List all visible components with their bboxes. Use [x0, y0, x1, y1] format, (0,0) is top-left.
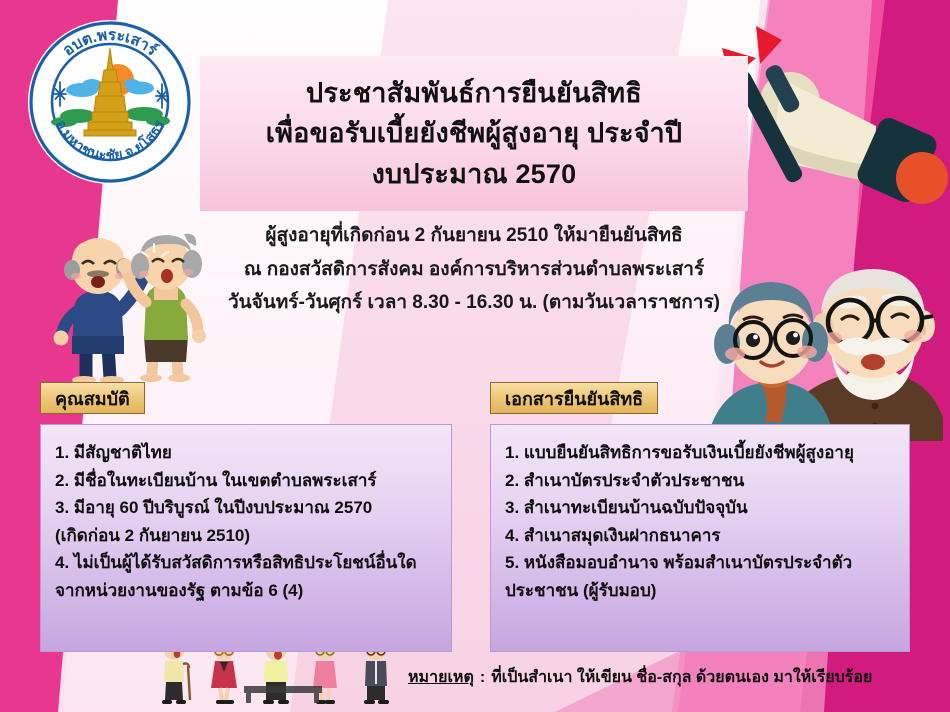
- qualification-item: จากหน่วยงานของรัฐ ตามข้อ 6 (4): [55, 577, 437, 605]
- tab-qualifications-label: คุณสมบัติ: [55, 384, 130, 413]
- document-item: 3. สำเนาทะเบียนบ้านฉบับปัจจุบัน: [505, 494, 895, 522]
- tab-documents-label: เอกสารยืนยันสิทธิ: [505, 384, 643, 413]
- document-item: 2. สำเนาบัตรประจำตัวประชาชน: [505, 467, 895, 495]
- qualification-item: (เกิดก่อน 2 กันยายน 2510): [55, 522, 437, 550]
- document-item: 1. แบบยืนยันสิทธิการขอรับเงินเบี้ยยังชีพ…: [505, 439, 895, 467]
- subtitle-line-2: ณ กองสวัสดิการสังคม องค์การบริหารส่วนตำบ…: [244, 258, 704, 283]
- footer-note: หมายเหตุ : ที่เป็นสำเนา ให้เขียน ชื่อ-สก…: [408, 665, 872, 690]
- title-banner: ประชาสัมพันธ์การยืนยันสิทธิ เพื่อขอรับเบ…: [200, 56, 748, 211]
- document-item: 4. สำเนาสมุดเงินฝากธนาคาร: [505, 522, 895, 550]
- page-title-line-2: เพื่อขอรับเบี้ยยังชีพผู้สูงอายุ ประจำปี: [266, 115, 683, 151]
- document-item: ประชาชน (ผู้รับมอบ): [505, 577, 895, 605]
- subtitle-block: ผู้สูงอายุที่เกิดก่อน 2 กันยายน 2510 ให้…: [200, 224, 748, 316]
- footer-note-text: ที่เป็นสำเนา ให้เขียน ชื่อ-สกุล ด้วยตนเอ…: [491, 665, 872, 690]
- qualification-item: 2. มีชื่อในทะเบียนบ้าน ในเขตตำบลพระเสาร์: [55, 467, 437, 495]
- qualification-item: 1. มีสัญชาติไทย: [55, 439, 437, 467]
- qualifications-panel: 1. มีสัญชาติไทย 2. มีชื่อในทะเบียนบ้าน ใ…: [40, 424, 452, 652]
- tab-documents[interactable]: เอกสารยืนยันสิทธิ: [490, 382, 658, 414]
- subtitle-line-1: ผู้สูงอายุที่เกิดก่อน 2 กันยายน 2510 ให้…: [265, 224, 682, 249]
- page-title-line-3: งบประมาณ 2570: [372, 156, 577, 192]
- tab-qualifications[interactable]: คุณสมบัติ: [40, 382, 145, 414]
- documents-panel: 1. แบบยืนยันสิทธิการขอรับเงินเบี้ยยังชีพ…: [490, 424, 910, 652]
- elderly-couple-highfive-icon: [42, 226, 232, 386]
- subtitle-line-3: วันจันทร์-วันศุกร์ เวลา 8.30 - 16.30 น. …: [228, 291, 720, 316]
- document-item: 5. หนังสือมอบอำนาจ พร้อมสำเนาบัตรประจำตั…: [505, 549, 895, 577]
- municipality-seal-icon: อบต.พระเสาร์ อ.มหาชนะชัย จ.ยโสธร: [26, 18, 194, 186]
- footer-note-separator: :: [480, 669, 485, 687]
- elderly-couple-portrait-icon: [705, 266, 950, 441]
- footer-note-label: หมายเหตุ: [408, 665, 474, 690]
- qualification-item: 4. ไม่เป็นผู้ได้รับสวัสดิการหรือสิทธิประ…: [55, 549, 437, 577]
- poster-root: อบต.พระเสาร์ อ.มหาชนะชัย จ.ยโสธร: [0, 0, 950, 712]
- page-title-line-1: ประชาสัมพันธ์การยืนยันสิทธิ: [306, 75, 642, 111]
- qualification-item: 3. มีอายุ 60 ปีบริบูรณ์ ในปีงบประมาณ 257…: [55, 494, 437, 522]
